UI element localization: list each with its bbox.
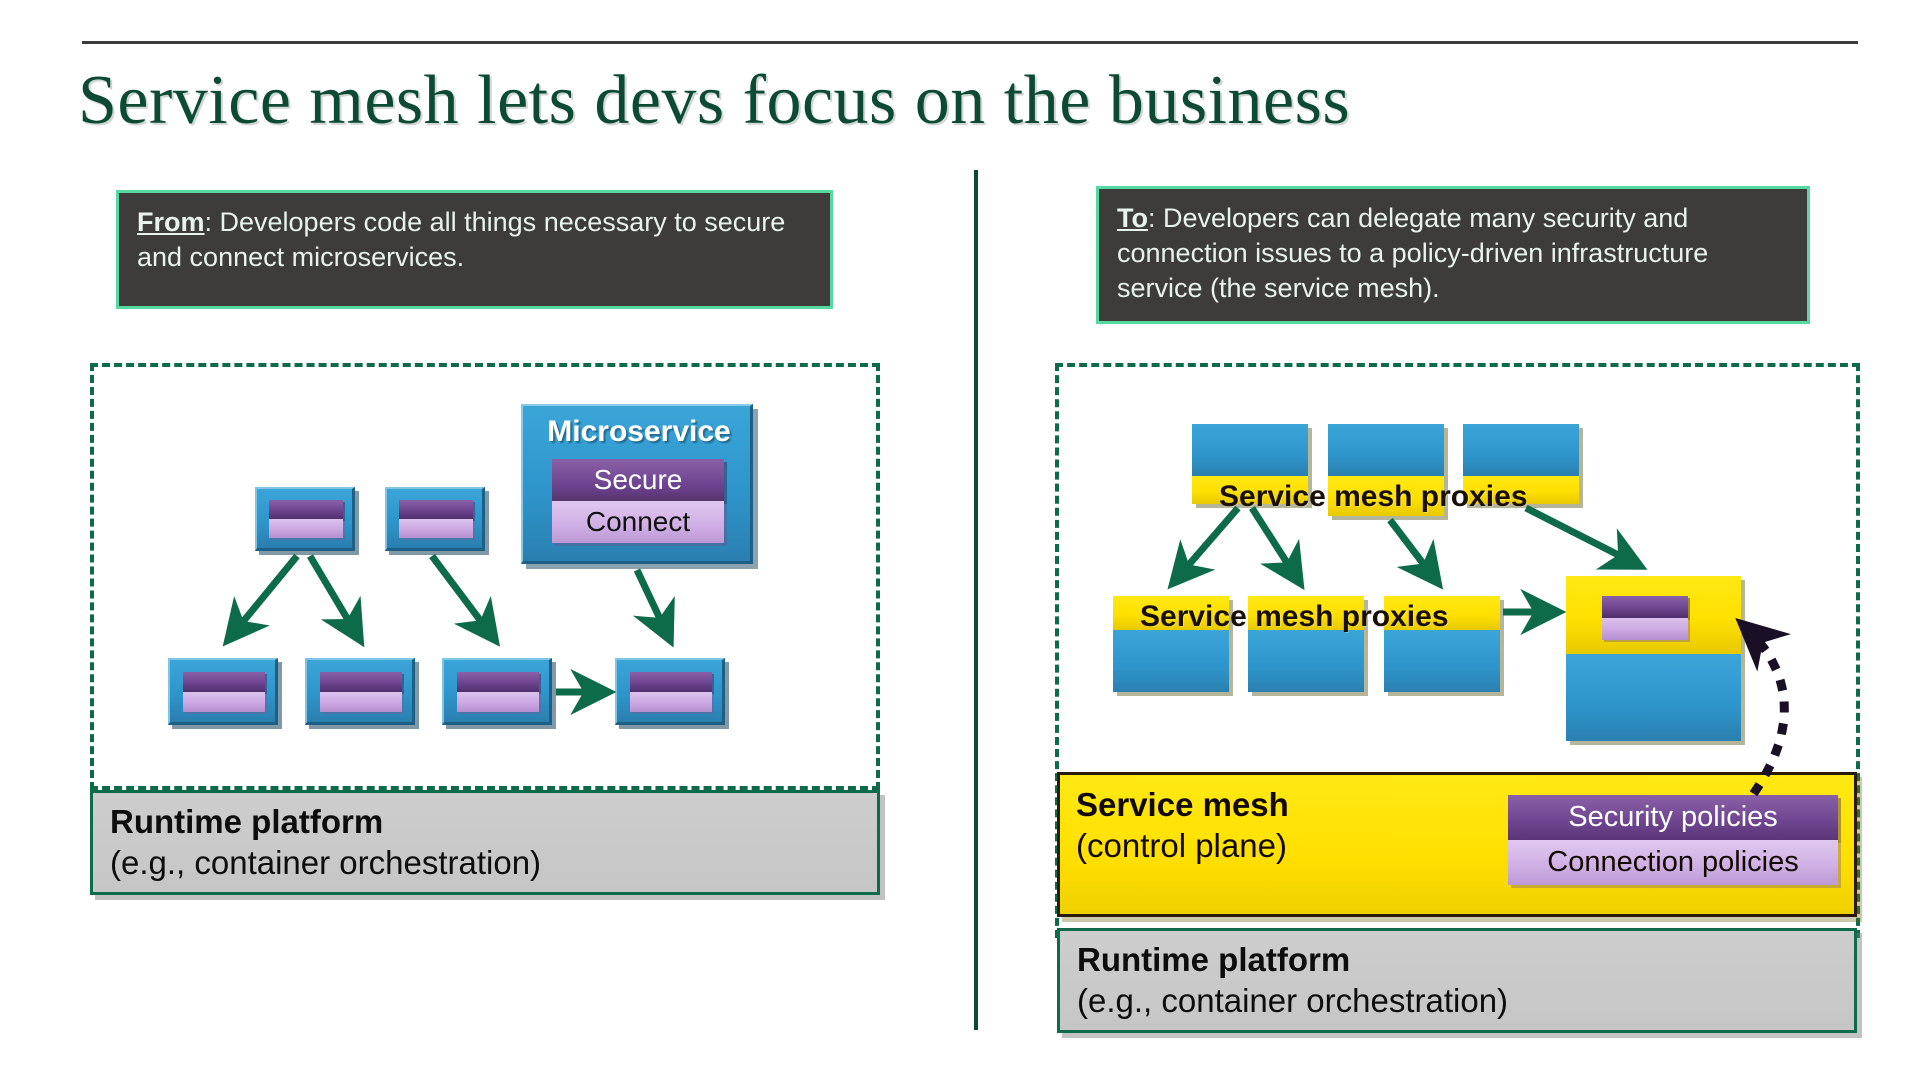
microservice-title: Microservice bbox=[523, 415, 755, 449]
connect-bar bbox=[630, 692, 712, 712]
slide-canvas: Service mesh lets devs focus on the busi… bbox=[0, 0, 1920, 1080]
proxies-mid-label: Service mesh proxies bbox=[1140, 600, 1449, 634]
left-runtime-title: Runtime platform bbox=[110, 803, 383, 841]
left-service-bottom-2 bbox=[305, 658, 415, 725]
secure-bar bbox=[457, 672, 539, 692]
secure-bar bbox=[269, 500, 343, 519]
proxy-body bbox=[1384, 630, 1500, 692]
security-policies-bar: Security policies bbox=[1508, 795, 1838, 840]
panel-divider bbox=[974, 170, 978, 1030]
connect-bar bbox=[457, 692, 539, 712]
proxy-body bbox=[1248, 630, 1364, 692]
secure-bar bbox=[183, 672, 265, 692]
proxy-body bbox=[1566, 654, 1741, 741]
left-caption-box: From: Developers code all things necessa… bbox=[116, 190, 833, 309]
connect-bar bbox=[320, 692, 402, 712]
secure-bar bbox=[320, 672, 402, 692]
proxies-top-label: Service mesh proxies bbox=[1219, 480, 1528, 514]
proxy-body bbox=[1463, 424, 1579, 476]
microservice-secure-bar: Secure bbox=[552, 459, 724, 501]
left-service-bottom-3 bbox=[442, 658, 552, 725]
left-caption-key: From bbox=[137, 207, 205, 237]
left-service-bottom-1 bbox=[168, 658, 278, 725]
left-caption-text: : Developers code all things necessary t… bbox=[137, 207, 785, 272]
secure-bar bbox=[630, 672, 712, 692]
service-mesh-control-plane-box: Service mesh (control plane) Security po… bbox=[1057, 772, 1857, 917]
left-service-top-2 bbox=[385, 487, 485, 551]
connect-bar bbox=[183, 692, 265, 712]
connection-policies-bar: Connection policies bbox=[1508, 840, 1838, 885]
right-caption-text: : Developers can delegate many security … bbox=[1117, 203, 1708, 303]
service-mesh-subtitle: (control plane) bbox=[1076, 827, 1287, 865]
proxy-body bbox=[1328, 424, 1444, 476]
proxy-body bbox=[1192, 424, 1308, 476]
top-rule-divider bbox=[82, 41, 1858, 44]
secure-bar bbox=[1602, 596, 1688, 618]
right-runtime-subtitle: (e.g., container orchestration) bbox=[1077, 982, 1508, 1020]
connect-bar bbox=[269, 519, 343, 538]
left-runtime-platform-box: Runtime platform (e.g., container orches… bbox=[90, 790, 880, 895]
left-workload-boundary bbox=[90, 363, 880, 790]
left-runtime-subtitle: (e.g., container orchestration) bbox=[110, 844, 541, 882]
connect-bar bbox=[399, 519, 473, 538]
proxy-body bbox=[1113, 630, 1229, 692]
right-runtime-platform-box: Runtime platform (e.g., container orches… bbox=[1057, 928, 1857, 1033]
connect-bar bbox=[1602, 618, 1688, 640]
right-caption-key: To bbox=[1117, 203, 1148, 233]
page-title: Service mesh lets devs focus on the busi… bbox=[78, 60, 1778, 142]
left-service-top-1 bbox=[255, 487, 355, 551]
right-runtime-title: Runtime platform bbox=[1077, 941, 1350, 979]
microservice-connect-bar: Connect bbox=[552, 501, 724, 543]
microservice-box: Microservice Secure Connect bbox=[521, 404, 753, 564]
left-service-bottom-4 bbox=[615, 658, 725, 725]
right-proxy-detailed bbox=[1566, 576, 1741, 741]
secure-bar bbox=[399, 500, 473, 519]
right-caption-box: To: Developers can delegate many securit… bbox=[1096, 186, 1810, 324]
service-mesh-title: Service mesh bbox=[1076, 786, 1289, 824]
